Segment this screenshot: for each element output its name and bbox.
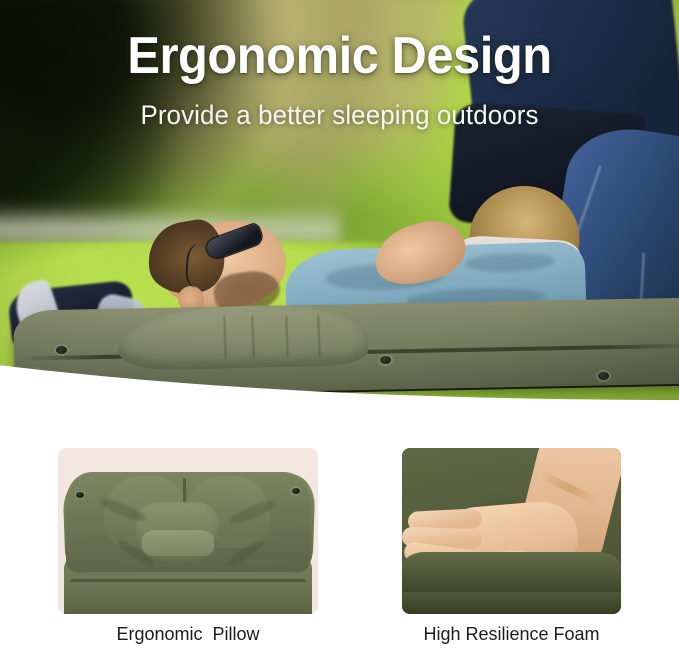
card-high-resilience-foam[interactable] (402, 448, 621, 614)
page-title: Ergonomic Design (20, 30, 658, 83)
pillow-grommet (76, 492, 84, 498)
high-resilience-foam-image (402, 448, 621, 614)
pad-valve (380, 356, 391, 364)
page-subtitle: Provide a better sleeping outdoors (14, 100, 666, 131)
pillow-base-seam (70, 579, 306, 582)
hero-banner: Ergonomic Design Provide a better sleepi… (0, 0, 679, 418)
pillow-grommet (292, 488, 300, 494)
caption-ergonomic-pillow: Ergonomic Pillow (58, 624, 318, 645)
pad-valve (56, 346, 67, 354)
ergonomic-pillow-image (58, 448, 318, 614)
pillow-neck-support (142, 530, 214, 556)
caption-high-resilience-foam: High Resilience Foam (402, 624, 621, 645)
feature-cards: Ergonomic Pillow High Resilience Foam (0, 448, 679, 662)
card-ergonomic-pillow[interactable] (58, 448, 318, 614)
foam-front-edge (402, 552, 621, 596)
pad-valve (598, 372, 609, 380)
foam-bottom-edge (402, 592, 621, 614)
